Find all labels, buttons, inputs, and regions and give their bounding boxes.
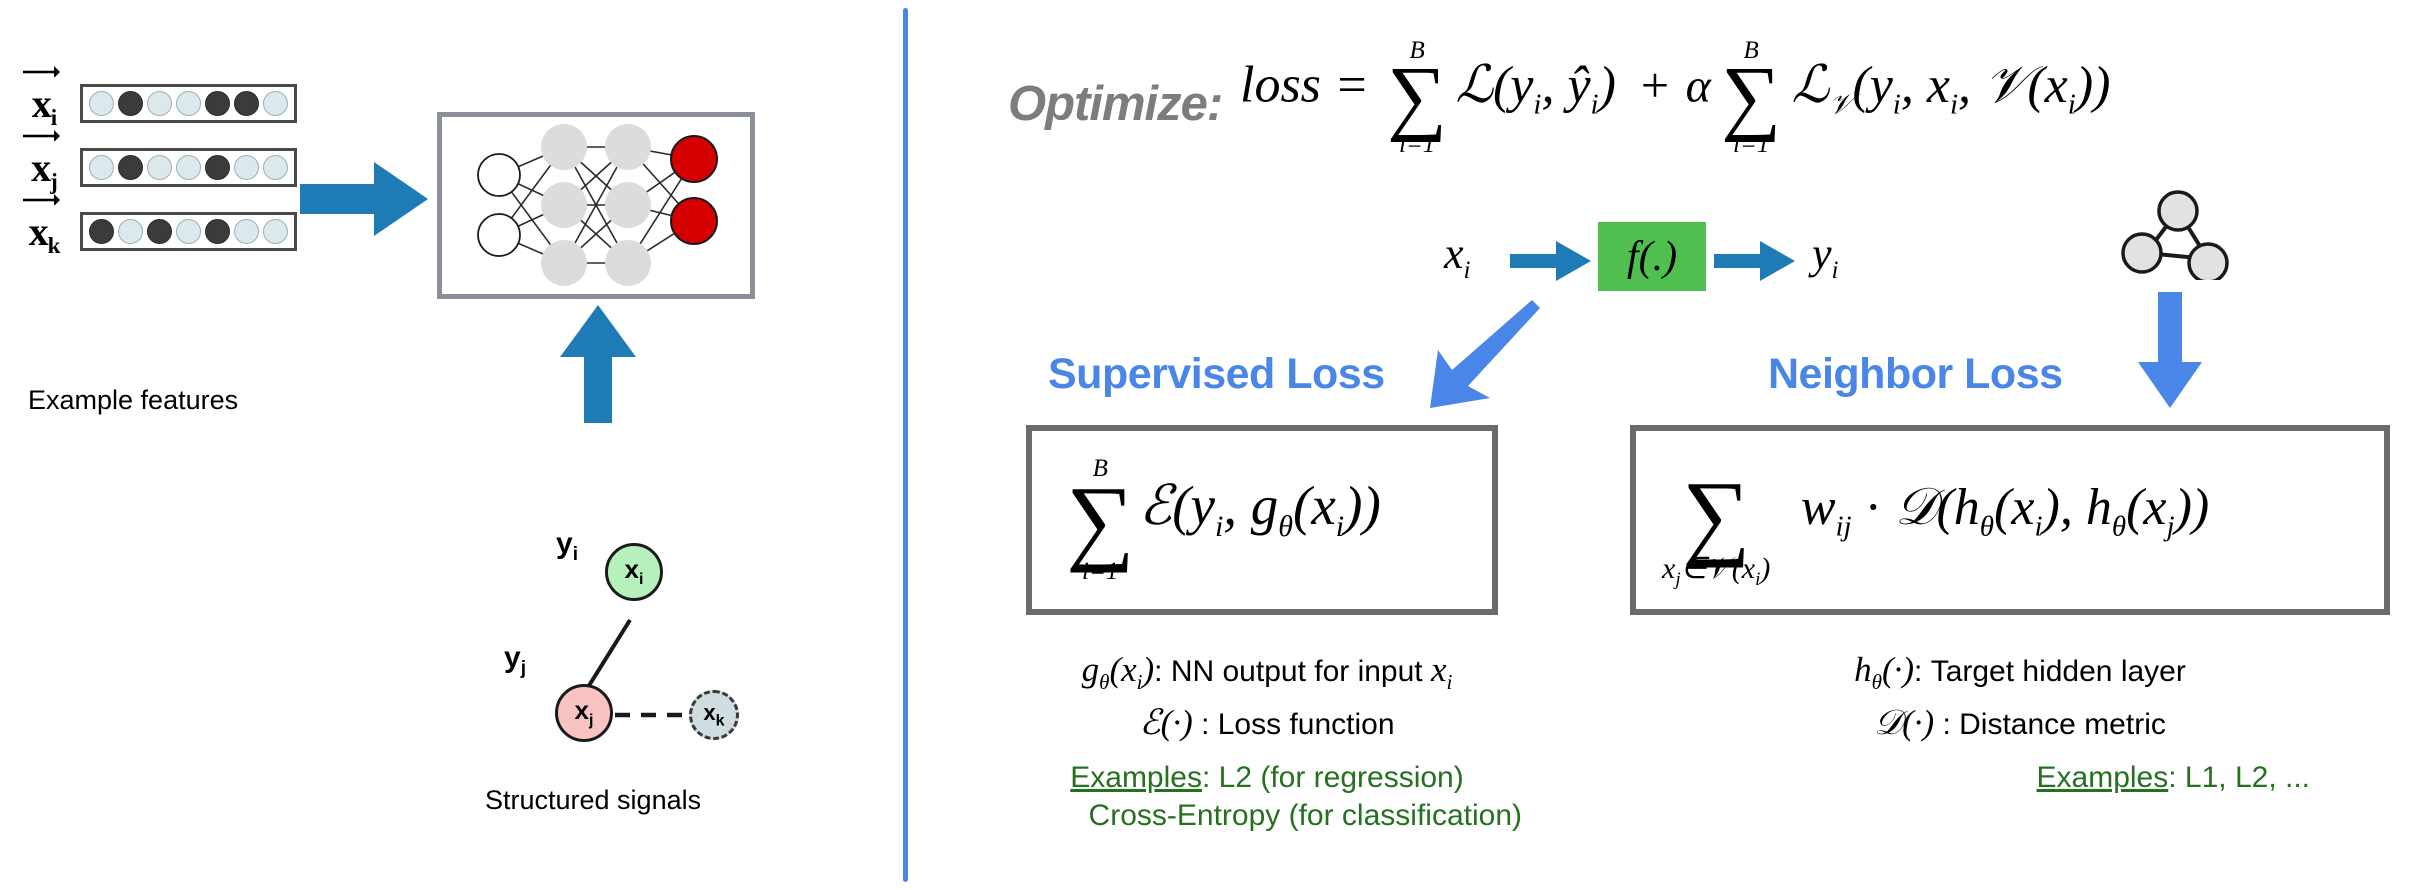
legend-colon-2: : — [1193, 708, 1218, 741]
panel-divider — [903, 8, 908, 882]
neighbor-loss-title: Neighbor Loss — [1768, 350, 2063, 399]
neighbor-loss-arrow-icon — [2134, 292, 2206, 410]
main-equation-plus: + — [1641, 57, 1669, 113]
feature-cell — [234, 91, 259, 116]
x-k-vector-label-sub: k — [48, 233, 61, 258]
supervised-examples-line-1: Examples: L2 (for regression) — [1012, 761, 1522, 795]
main-equation-lhs: loss — [1240, 57, 1321, 114]
pipeline-arrow-out-icon — [1714, 239, 1796, 283]
x-k-vector-box — [80, 212, 297, 251]
summation-icon: ∑ — [1721, 63, 1781, 132]
graph-node-xk: xk — [689, 690, 739, 740]
neighbor-legend: hθ(·): Target hidden layer 𝒟(·) : Distan… — [1700, 650, 2340, 795]
summation-icon: ∑ — [1682, 476, 1750, 555]
graph-node-xi-y-label: yi — [556, 527, 578, 566]
function-box-label: f(.) — [1627, 233, 1677, 281]
neighbor-legend-text-1: Target hidden layer — [1931, 655, 2186, 688]
x-j-vector-box — [80, 148, 297, 187]
feature-cell — [205, 91, 230, 116]
main-equation-term2-body: ℒ𝒱(yi, xi, 𝒱(xi)) — [1792, 57, 2111, 114]
neighbor-legend-text-2: Distance metric — [1959, 708, 2166, 741]
optimize-label: Optimize: — [1008, 76, 1222, 132]
x-k-vector-label: xk — [10, 208, 80, 255]
main-equation-sum-1: B ∑ i=1 — [1387, 38, 1447, 157]
graph-node-xk-label: xk — [703, 700, 724, 730]
distance-metric-symbol: 𝒟(·) — [1874, 703, 1934, 742]
main-equation-equals: = — [1337, 57, 1366, 114]
feature-cell — [147, 155, 172, 180]
graph-node-xj-y-label: yj — [504, 641, 526, 680]
feature-vectors-group: xi xj — [10, 80, 297, 255]
pipeline-output-label: yi — [1812, 228, 1838, 285]
neighbor-sum: B ∑ xj∈𝒱(xi) — [1662, 451, 1770, 590]
features-to-network-arrow-icon — [300, 158, 430, 240]
feature-cell — [118, 219, 143, 244]
x-k-vector-label-base: x — [29, 209, 49, 254]
loss-function-symbol: ℰ(·) — [1139, 703, 1192, 742]
supervised-examples-label: Examples — [1070, 761, 1202, 794]
supervised-loss-formula: B ∑ i=1 ℰ(yi, gθ(xi)) — [1032, 456, 1381, 585]
feature-cell — [118, 91, 143, 116]
x-i-vector-box — [80, 84, 297, 123]
legend-colon-4: : — [1934, 708, 1959, 741]
supervised-legend-line-2: ℰ(·) : Loss function — [1012, 703, 1522, 743]
supervised-legend-text-2: Loss function — [1218, 708, 1395, 741]
feature-cell — [89, 219, 114, 244]
feature-cell — [234, 219, 259, 244]
x-j-vector-label-base: x — [31, 145, 51, 190]
g-theta-symbol: gθ(xi) — [1082, 650, 1155, 689]
neighbor-loss-formula: B ∑ xj∈𝒱(xi) wij · 𝒟(hθ(xi), hθ(xj)) — [1636, 451, 2209, 590]
input-layer-nodes — [478, 154, 520, 256]
main-equation-sum-2: B ∑ i=1 — [1721, 38, 1781, 157]
supervised-examples-text-1: : L2 (for regression) — [1202, 761, 1464, 794]
hidden-layer-2-nodes — [605, 124, 651, 286]
feature-cell — [176, 91, 201, 116]
summation-icon: ∑ — [1387, 63, 1447, 132]
neural-network-diagram — [442, 117, 750, 294]
supervised-formula-body: ℰ(yi, gθ(xi)) — [1139, 475, 1381, 536]
neighbor-formula-body: wij · 𝒟(hθ(xi), hθ(xj)) — [1801, 479, 2209, 536]
legend-colon-3: : — [1914, 655, 1931, 688]
graph-node-xi-label: xi — [625, 554, 644, 589]
feature-cell — [118, 155, 143, 180]
supervised-loss-title: Supervised Loss — [1048, 350, 1385, 399]
graph-node-xi: xi — [605, 543, 663, 601]
pipeline-input-label: xi — [1444, 228, 1470, 285]
x-k-vector-row: xk — [10, 208, 297, 255]
supervised-legend-line-1: gθ(xi): NN output for input xi — [1012, 650, 1522, 695]
legend-colon-1: : — [1154, 655, 1171, 688]
vector-arrow-icon — [22, 63, 60, 77]
graph-triangle-icon — [2110, 175, 2230, 280]
neighbor-loss-formula-box: B ∑ xj∈𝒱(xi) wij · 𝒟(hθ(xi), hθ(xj)) — [1630, 425, 2390, 615]
main-equation-alpha: α — [1686, 60, 1711, 113]
sum-lower-limit: i=1 — [1399, 132, 1435, 157]
x-i-vector-label-base: x — [32, 81, 52, 126]
supervised-legend-text-1: NN output for input — [1171, 655, 1431, 688]
vector-arrow-icon — [22, 127, 60, 141]
main-equation: loss = B ∑ i=1 ℒ(yi, ŷi) + α B ∑ i=1 ℒ𝒱(… — [1240, 38, 2110, 157]
neighbor-legend-line-2: 𝒟(·) : Distance metric — [1700, 703, 2340, 743]
pipeline-arrow-in-icon — [1510, 239, 1592, 283]
feature-cell — [263, 219, 288, 244]
graph-node-xj-label: xj — [575, 695, 594, 730]
neighbor-examples-line-1: Examples: L1, L2, ... — [1700, 761, 2340, 795]
feature-cell — [89, 91, 114, 116]
feature-cell — [263, 91, 288, 116]
x-j-vector-row: xj — [10, 144, 297, 191]
signals-to-network-arrow-icon — [558, 305, 638, 425]
example-features-caption: Example features — [28, 385, 238, 416]
feature-cell — [147, 219, 172, 244]
summation-icon: ∑ — [1066, 481, 1134, 560]
neighbor-examples-label: Examples — [2037, 761, 2169, 794]
feature-cell — [147, 91, 172, 116]
sum-lower-limit: i=1 — [1082, 559, 1118, 584]
feature-cell — [176, 219, 201, 244]
supervised-examples-line-2: Cross-Entropy (for classification) — [1012, 799, 1522, 833]
x-i-symbol: xi — [1431, 650, 1452, 689]
hidden-layer-1-nodes — [541, 124, 587, 286]
vector-arrow-icon — [22, 191, 60, 205]
x-j-vector-label: xj — [10, 144, 80, 191]
neighbor-examples-text-1: : L1, L2, ... — [2168, 761, 2310, 794]
feature-cell — [263, 155, 288, 180]
x-i-vector-row: xi — [10, 80, 297, 127]
supervised-legend: gθ(xi): NN output for input xi ℰ(·) : Lo… — [1012, 650, 1522, 833]
sum-lower-limit: xj∈𝒱(xi) — [1662, 554, 1770, 589]
sum-lower-limit: i=1 — [1733, 132, 1769, 157]
graph-node-xj: xj — [555, 684, 613, 742]
structured-signals-caption: Structured signals — [485, 785, 701, 816]
output-layer-nodes — [671, 136, 717, 244]
feature-cell — [176, 155, 201, 180]
neighbor-legend-line-1: hθ(·): Target hidden layer — [1700, 650, 2340, 695]
feature-cell — [205, 219, 230, 244]
x-i-vector-label: xi — [10, 80, 80, 127]
supervised-loss-arrow-icon — [1420, 300, 1540, 410]
supervised-sum: B ∑ i=1 — [1066, 456, 1134, 585]
feature-cell — [89, 155, 114, 180]
feature-cell — [234, 155, 259, 180]
feature-cell — [205, 155, 230, 180]
h-theta-symbol: hθ(·) — [1854, 650, 1914, 689]
supervised-loss-formula-box: B ∑ i=1 ℰ(yi, gθ(xi)) — [1026, 425, 1498, 615]
main-equation-term1-body: ℒ(yi, ŷi) — [1456, 57, 1629, 114]
function-box: f(.) — [1598, 222, 1706, 291]
